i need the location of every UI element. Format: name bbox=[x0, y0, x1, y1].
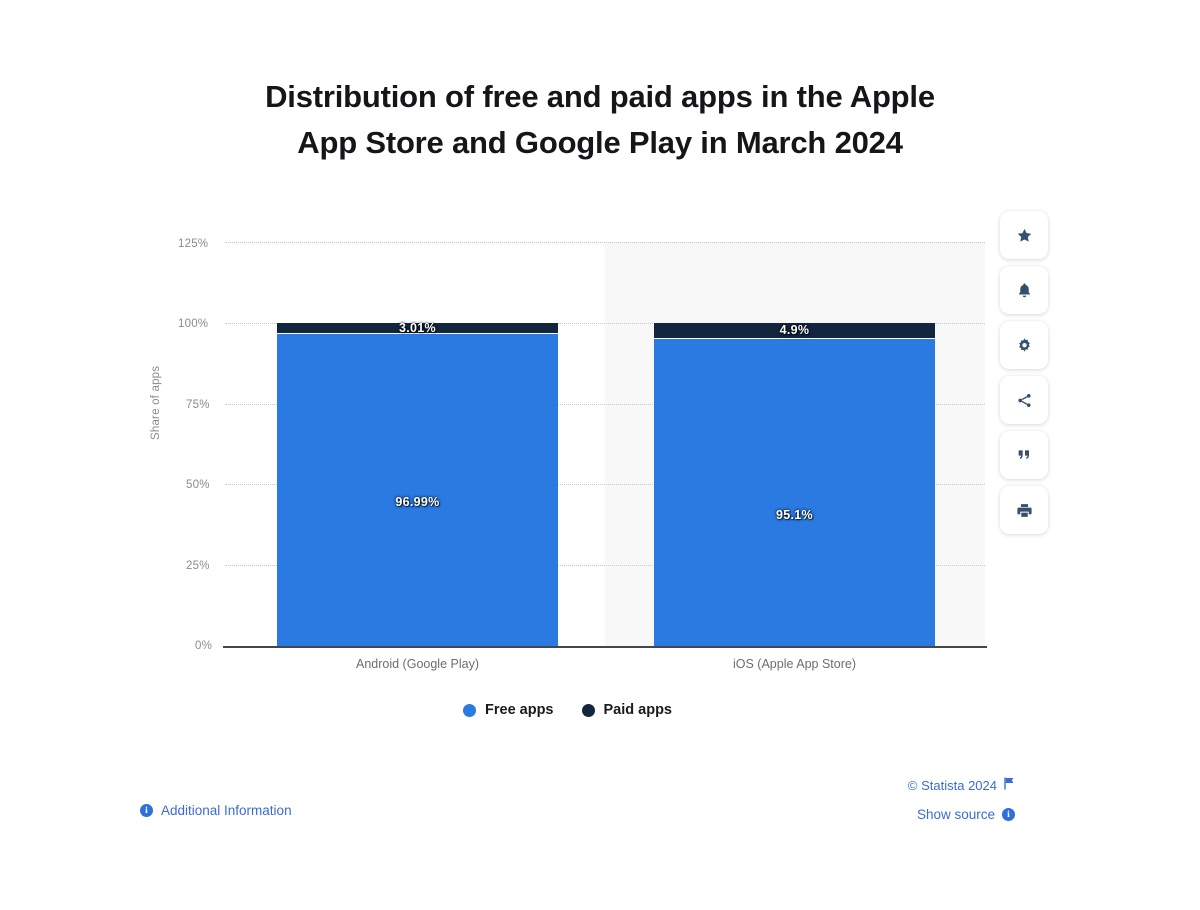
show-source-link[interactable]: Show source i bbox=[917, 807, 1015, 822]
page-title: Distribution of free and paid apps in th… bbox=[180, 74, 1020, 165]
bar-segment-paid-android[interactable]: 3.01% bbox=[277, 323, 558, 334]
show-source-label: Show source bbox=[917, 807, 995, 822]
share-icon bbox=[1016, 392, 1033, 409]
bar-segment-paid-ios[interactable]: 4.9% bbox=[654, 323, 935, 339]
statista-chart-page: Distribution of free and paid apps in th… bbox=[0, 0, 1200, 910]
info-icon: i bbox=[1002, 808, 1015, 821]
copyright-label: © Statista 2024 bbox=[908, 778, 997, 793]
y-tick-0: 0% bbox=[195, 640, 212, 652]
y-tick-100: 100% bbox=[178, 318, 208, 330]
copyright: © Statista 2024 bbox=[908, 777, 1015, 793]
additional-information-link[interactable]: i Additional Information bbox=[140, 803, 292, 818]
legend-item-paid-apps[interactable]: Paid apps bbox=[582, 702, 673, 718]
y-tick-50: 50% bbox=[186, 479, 210, 491]
bell-icon bbox=[1016, 282, 1033, 299]
y-tick-25: 25% bbox=[186, 560, 210, 572]
legend-label-paid-apps: Paid apps bbox=[604, 702, 673, 718]
additional-information-label: Additional Information bbox=[161, 803, 292, 818]
plot-area: 96.99% 3.01% 95.1% 4.9% bbox=[225, 242, 985, 646]
bar-value-paid-android: 3.01% bbox=[277, 322, 558, 334]
favorite-button[interactable] bbox=[1000, 211, 1048, 259]
star-icon bbox=[1016, 227, 1033, 244]
bar-value-free-android: 96.99% bbox=[277, 495, 558, 509]
flag-icon bbox=[1004, 777, 1015, 793]
bar-value-paid-ios: 4.9% bbox=[654, 324, 935, 336]
legend-item-free-apps[interactable]: Free apps bbox=[463, 702, 554, 718]
bar-group-android[interactable]: 96.99% 3.01% bbox=[277, 323, 558, 646]
settings-button[interactable] bbox=[1000, 321, 1048, 369]
chart-legend: Free apps Paid apps bbox=[0, 702, 1135, 718]
chart-action-toolbar bbox=[1000, 211, 1048, 534]
page-title-line-1: Distribution of free and paid apps in th… bbox=[180, 74, 1020, 120]
gear-icon bbox=[1016, 337, 1033, 354]
info-icon: i bbox=[140, 804, 153, 817]
share-button[interactable] bbox=[1000, 376, 1048, 424]
print-icon bbox=[1016, 502, 1033, 519]
x-label-android: Android (Google Play) bbox=[277, 657, 558, 671]
x-label-ios: iOS (Apple App Store) bbox=[654, 657, 935, 671]
y-tick-75: 75% bbox=[186, 399, 210, 411]
legend-swatch-free-apps bbox=[463, 704, 476, 717]
gridline-125 bbox=[225, 242, 985, 243]
quote-icon bbox=[1016, 447, 1032, 463]
bar-segment-free-ios[interactable]: 95.1% bbox=[654, 339, 935, 646]
page-title-line-2: App Store and Google Play in March 2024 bbox=[180, 120, 1020, 166]
y-tick-125: 125% bbox=[178, 238, 208, 250]
x-axis-line bbox=[223, 646, 987, 648]
bar-value-free-ios: 95.1% bbox=[654, 508, 935, 522]
alert-button[interactable] bbox=[1000, 266, 1048, 314]
bar-segment-free-android[interactable]: 96.99% bbox=[277, 332, 558, 646]
y-axis-title: Share of apps bbox=[150, 366, 162, 440]
bar-group-ios[interactable]: 95.1% 4.9% bbox=[654, 323, 935, 646]
cite-button[interactable] bbox=[1000, 431, 1048, 479]
legend-label-free-apps: Free apps bbox=[485, 702, 554, 718]
print-button[interactable] bbox=[1000, 486, 1048, 534]
legend-swatch-paid-apps bbox=[582, 704, 595, 717]
